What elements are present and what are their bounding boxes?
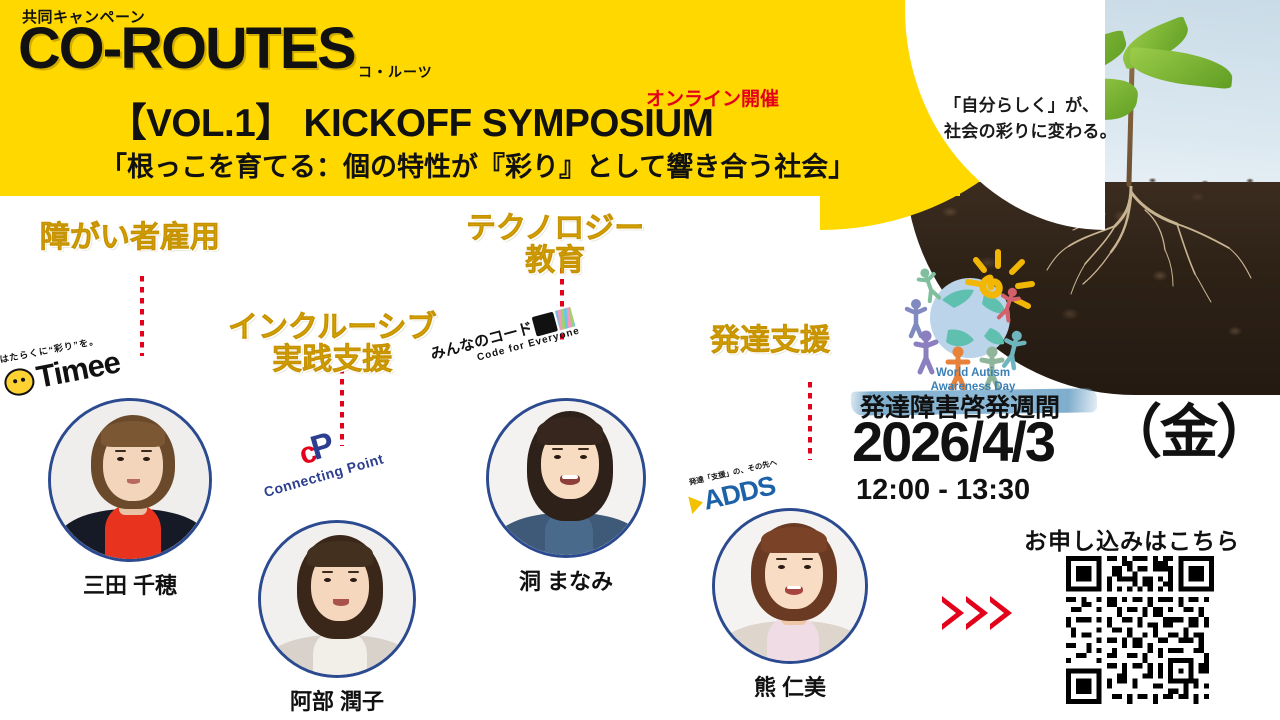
awareness-caption-line-1: World Autism bbox=[898, 366, 1048, 380]
timee-bird-icon bbox=[2, 365, 37, 397]
hero-quote: 「自分らしく」が、 社会の彩りに変わる。 bbox=[944, 93, 1117, 146]
category-label-development: 発達支援 bbox=[710, 325, 830, 357]
registration-qr-code[interactable] bbox=[1066, 556, 1214, 704]
minna-no-code-logo: みんなのコード Code for Everyone bbox=[428, 305, 581, 375]
speaker-photo-hora bbox=[486, 398, 646, 558]
event-time: 12:00 - 13:30 bbox=[856, 474, 1030, 507]
chevron-right-icon bbox=[990, 596, 1012, 630]
brand-title: CO-ROUTES bbox=[18, 20, 355, 78]
chevron-right-icon bbox=[966, 596, 988, 630]
symposium-title: 【VOL.1】 KICKOFF SYMPOSIUM bbox=[108, 104, 713, 143]
avatar bbox=[715, 511, 865, 661]
connector-dots bbox=[140, 276, 144, 356]
online-event-badge: オンライン開催 bbox=[646, 84, 779, 111]
poster-root: 共同キャンペーン CO-ROUTES コ・ルーツ オンライン開催 【VOL.1】… bbox=[0, 0, 1280, 720]
category-label-employment: 障がい者雇用 bbox=[40, 222, 220, 254]
brand-ruby-text: コ・ルーツ bbox=[358, 62, 433, 82]
speaker-photo-mita bbox=[48, 398, 212, 562]
symposium-subtitle: 「根っこを育てる：個の特性が『彩り』として響き合う社会」 bbox=[100, 154, 855, 181]
avatar bbox=[261, 523, 413, 675]
chevron-right-icon bbox=[942, 596, 964, 630]
event-day-of-week: （金） bbox=[1104, 404, 1272, 462]
speaker-name-hora: 洞 まなみ bbox=[486, 564, 646, 596]
avatar bbox=[51, 401, 209, 559]
speaker-name-mita: 三田 千穂 bbox=[48, 568, 212, 600]
avatar bbox=[489, 401, 643, 555]
awareness-caption-line-2: Awareness Day bbox=[898, 380, 1048, 394]
apply-here-label: お申し込みはこちら bbox=[1024, 522, 1240, 556]
category-label-technology: テクノロジー 教育 bbox=[466, 213, 644, 277]
timee-logo: はたらくに“彩り”を。 Timee bbox=[0, 331, 123, 402]
speaker-photo-kuma bbox=[712, 508, 868, 664]
apply-arrows-icon bbox=[942, 596, 1012, 630]
hero-quote-line-2: 社会の彩りに変わる。 bbox=[944, 119, 1117, 145]
speaker-photo-abe bbox=[258, 520, 416, 678]
category-label-inclusive: インクルーシブ 実践支援 bbox=[228, 312, 437, 376]
speaker-name-kuma: 熊 仁美 bbox=[712, 670, 868, 702]
awareness-logo-caption: World Autism Awareness Day bbox=[898, 366, 1048, 395]
connector-dots bbox=[808, 382, 812, 460]
connecting-point-logo: c P Connecting Point bbox=[252, 416, 385, 500]
speaker-name-abe: 阿部 潤子 bbox=[258, 684, 416, 716]
hero-quote-line-1: 「自分らしく」が、 bbox=[944, 93, 1117, 119]
event-date: 2026/4/3 bbox=[852, 414, 1054, 470]
